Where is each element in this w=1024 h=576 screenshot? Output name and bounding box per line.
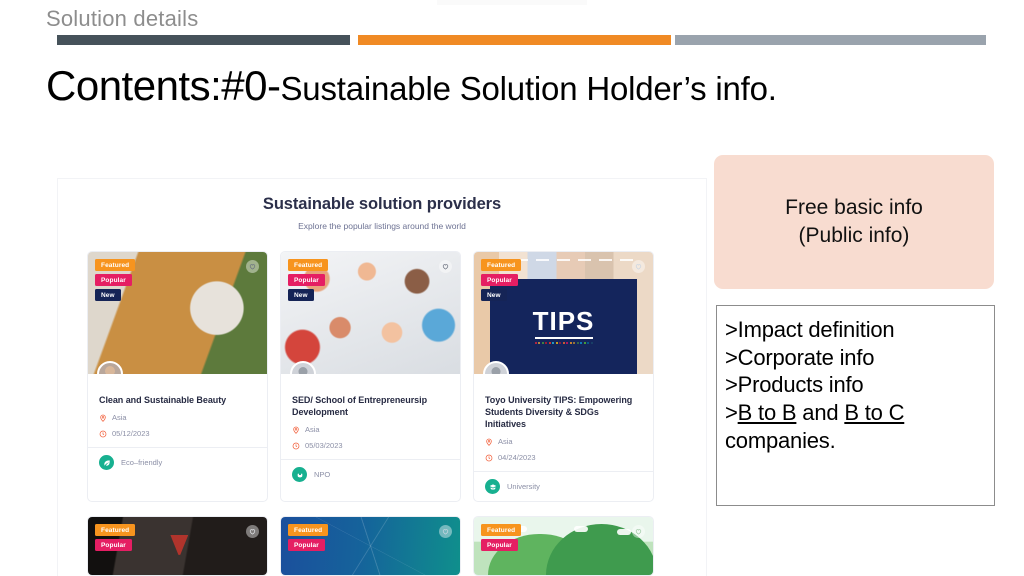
bullet-item: >Corporate info [725, 344, 994, 372]
bullet-text: Impact definition [738, 317, 895, 342]
bullet-text: Products info [738, 372, 864, 397]
badge-group: Featured Popular [95, 524, 135, 551]
date-label: 04/24/2023 [498, 453, 536, 462]
badge-featured: Featured [95, 524, 135, 536]
badge-featured: Featured [481, 524, 521, 536]
card-body: Clean and Sustainable Beauty Asia 05/12/… [88, 374, 267, 447]
callout-line1: Free basic info [785, 196, 923, 219]
tips-logo-text: TIPS [533, 308, 595, 334]
website-subheading: Explore the popular listings around the … [58, 221, 706, 231]
sdg-color-dots [535, 342, 593, 344]
badge-group: Featured Popular [481, 524, 521, 551]
rule-gray-segment [675, 35, 986, 45]
card-image: Featured Popular New [88, 252, 267, 374]
slide-canvas: Solution details Contents:#0-Sustainable… [0, 0, 1024, 576]
leaf-icon [99, 455, 114, 470]
badge-popular: Popular [481, 274, 518, 286]
bullet-item-b2b: >B to B and B to C [725, 399, 994, 427]
badge-popular: Popular [288, 539, 325, 551]
listing-grid-row2: Featured Popular Featured Popular [58, 516, 706, 576]
clock-icon [99, 430, 107, 438]
favorite-heart-icon[interactable] [632, 260, 645, 273]
listing-grid: Featured Popular New Clean and Sustainab… [58, 251, 706, 502]
badge-featured: Featured [288, 259, 328, 271]
badge-new: New [481, 289, 507, 301]
info-bullet-box: >Impact definition >Corporate info >Prod… [716, 305, 995, 506]
card-body: SED/ School of Entrepreneursip Developme… [281, 374, 460, 459]
listing-location: Asia [99, 413, 256, 422]
listing-location: Asia [485, 437, 642, 446]
listing-date: 05/03/2023 [292, 441, 449, 450]
category-label: NPO [314, 470, 330, 479]
date-label: 05/03/2023 [305, 441, 343, 450]
clock-icon [485, 454, 493, 462]
badge-group: Featured Popular New [481, 259, 521, 301]
card-footer[interactable]: Eco–friendly [88, 447, 267, 477]
bullet-marker: > [725, 400, 738, 425]
location-pin-icon [292, 426, 300, 434]
location-pin-icon [99, 414, 107, 422]
badge-group: Featured Popular New [95, 259, 135, 301]
bullet-item: >Impact definition [725, 316, 994, 344]
list-item[interactable]: Featured Popular [280, 516, 461, 576]
badge-featured: Featured [95, 259, 135, 271]
list-item[interactable]: Featured Popular [473, 516, 654, 576]
card-image: TIPS F [474, 252, 653, 374]
badge-featured: Featured [481, 259, 521, 271]
callout-text: Free basic info(Public info) [785, 194, 923, 251]
card-image: Featured Popular New [281, 252, 460, 374]
badge-popular: Popular [95, 274, 132, 286]
category-label: University [507, 482, 540, 491]
clock-icon [292, 442, 300, 450]
bullet-item-tail: companies. [725, 427, 994, 455]
rule-dark-segment [57, 35, 350, 45]
list-item[interactable]: Featured Popular New SED/ School of Entr… [280, 251, 461, 502]
location-pin-icon [485, 438, 493, 446]
location-label: Asia [498, 437, 513, 446]
bullet-text: Corporate info [738, 345, 875, 370]
listing-location: Asia [292, 425, 449, 434]
page-title-prefix: Contents:#0- [46, 62, 280, 109]
card-footer[interactable]: NPO [281, 459, 460, 489]
date-label: 05/12/2023 [112, 429, 150, 438]
listing-title: SED/ School of Entrepreneursip Developme… [292, 394, 449, 418]
rule-orange-segment [358, 35, 671, 45]
location-label: Asia [305, 425, 320, 434]
badge-new: New [95, 289, 121, 301]
slide-kicker: Solution details [46, 6, 198, 32]
listing-date: 04/24/2023 [485, 453, 642, 462]
badge-featured: Featured [288, 524, 328, 536]
card-footer[interactable]: University [474, 471, 653, 501]
listing-title: Clean and Sustainable Beauty [99, 394, 256, 406]
bullet-marker: > [725, 345, 738, 370]
badge-popular: Popular [288, 274, 325, 286]
badge-popular: Popular [95, 539, 132, 551]
location-label: Asia [112, 413, 127, 422]
callout-line2: (Public info) [799, 224, 910, 247]
badge-group: Featured Popular New [288, 259, 328, 301]
badge-popular: Popular [481, 539, 518, 551]
category-label: Eco–friendly [121, 458, 162, 467]
favorite-heart-icon[interactable] [246, 260, 259, 273]
card-body: Toyo University TIPS: Empowering Student… [474, 374, 653, 471]
list-item[interactable]: Featured Popular [87, 516, 268, 576]
bullet-marker: > [725, 372, 738, 397]
listing-title: Toyo University TIPS: Empowering Student… [485, 394, 642, 430]
conjunction: and [796, 400, 844, 425]
b-to-b-term: B to B [738, 400, 797, 425]
page-title-suffix: Sustainable Solution Holder’s info. [280, 70, 776, 107]
favorite-heart-icon[interactable] [439, 260, 452, 273]
badge-new: New [288, 289, 314, 301]
list-item[interactable]: Featured Popular New Clean and Sustainab… [87, 251, 268, 502]
listing-date: 05/12/2023 [99, 429, 256, 438]
bullet-marker: > [725, 317, 738, 342]
hands-icon [292, 467, 307, 482]
badge-group: Featured Popular [288, 524, 328, 551]
page-title: Contents:#0-Sustainable Solution Holder’… [46, 62, 777, 110]
website-heading: Sustainable solution providers [58, 195, 706, 214]
callout-free-basic-info: Free basic info(Public info) [714, 155, 994, 289]
graduation-cap-icon [485, 479, 500, 494]
bullet-item: >Products info [725, 371, 994, 399]
b-to-c-term: B to C [844, 400, 904, 425]
top-faint-band [437, 0, 587, 5]
website-screenshot: Sustainable solution providers Explore t… [57, 178, 707, 576]
list-item[interactable]: TIPS F [473, 251, 654, 502]
